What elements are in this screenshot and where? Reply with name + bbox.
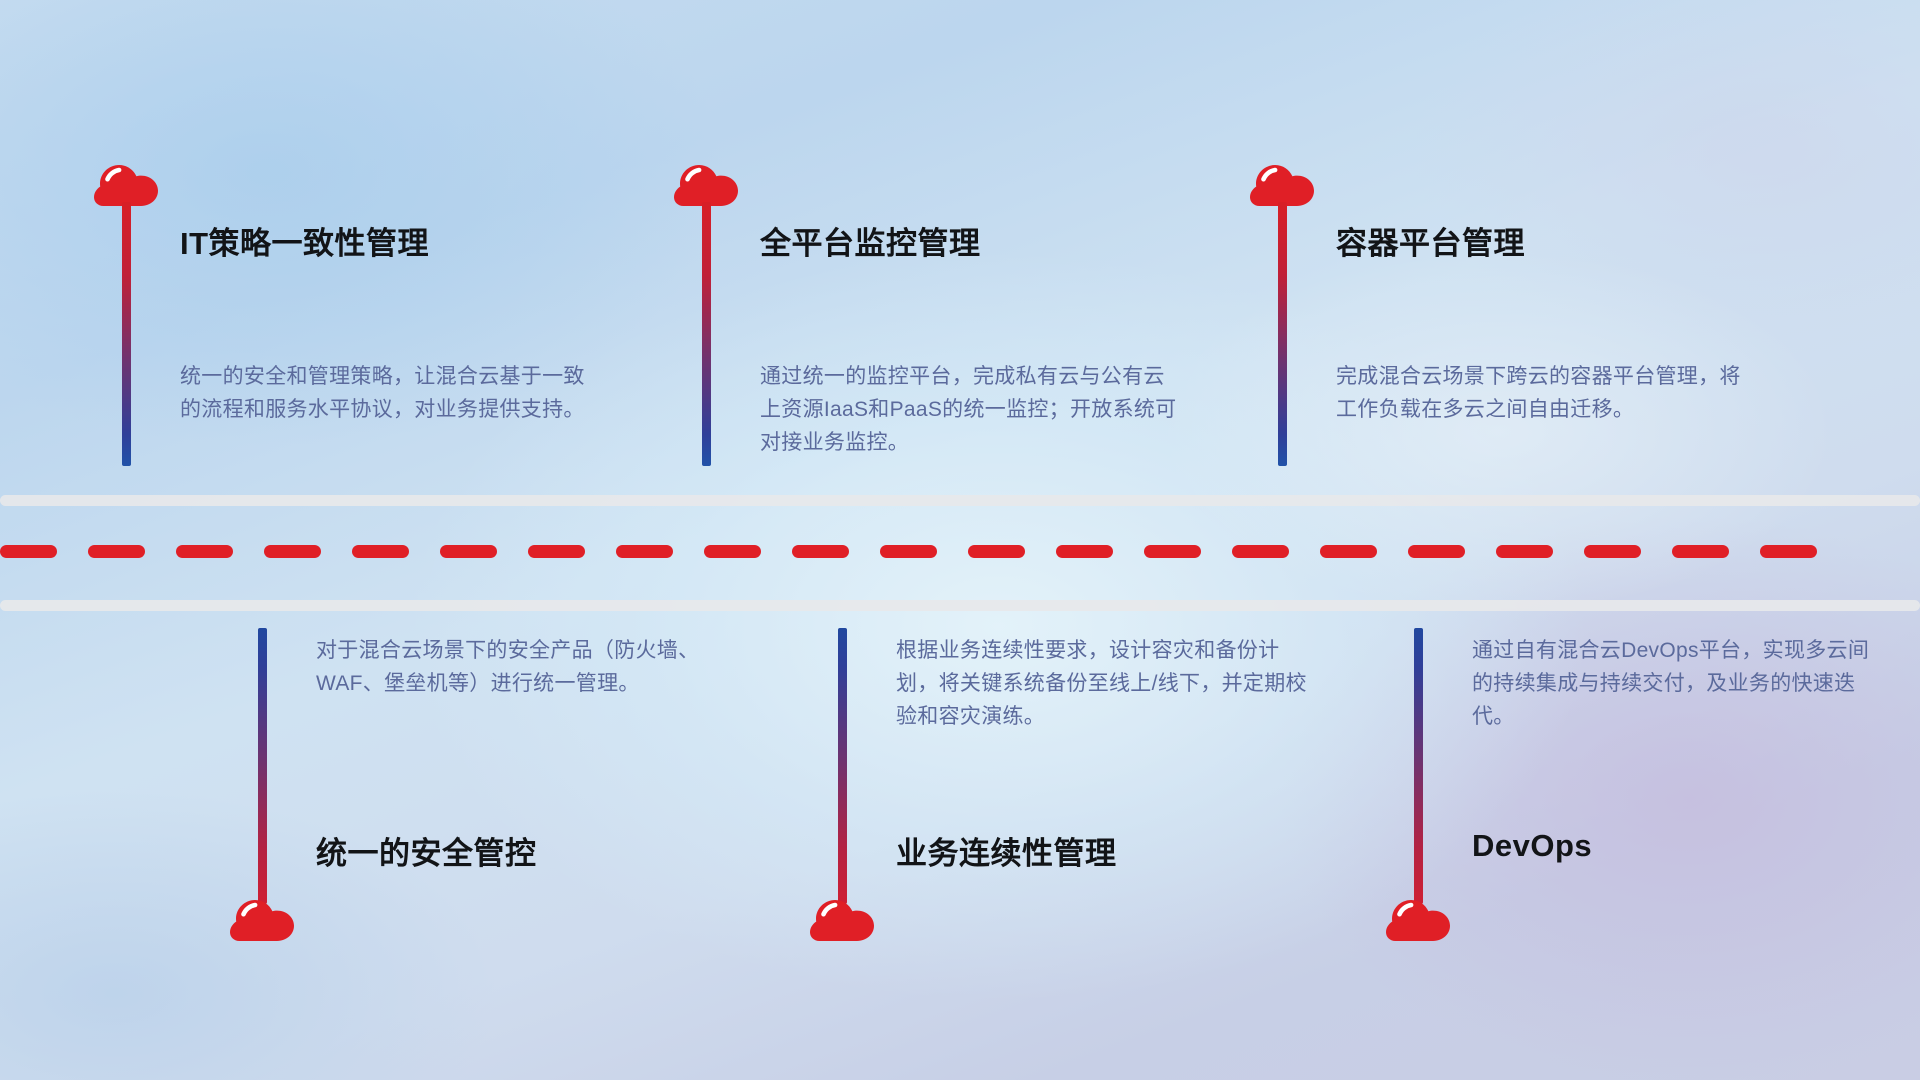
road-dash-segment (616, 545, 673, 558)
road-dash-segment (792, 545, 849, 558)
road-dash-segment (1496, 545, 1553, 558)
bottom-item-3-body: 通过自有混合云DevOps平台，实现多云间的持续集成与持续交付，及业务的快速迭代… (1472, 634, 1872, 734)
top-item-2-body: 通过统一的监控平台，完成私有云与公有云上资源IaaS和PaaS的统一监控；开放系… (760, 360, 1180, 460)
cloud-icon (1250, 160, 1316, 207)
road-dash-segment (1584, 545, 1641, 558)
road-dash-segment (1672, 545, 1729, 558)
stem-connector (838, 628, 847, 904)
cloud-icon (1386, 895, 1452, 942)
road-dash-segment (88, 545, 145, 558)
top-item-1-title: IT策略一致性管理 (180, 218, 429, 263)
bottom-item-2-body: 根据业务连续性要求，设计容灾和备份计划，将关键系统备份至线上/线下，并定期校验和… (896, 634, 1316, 734)
top-item-1-body: 统一的安全和管理策略，让混合云基于一致的流程和服务水平协议，对业务提供支持。 (180, 360, 600, 426)
cloud-icon (810, 895, 876, 942)
road-dash-segment (1056, 545, 1113, 558)
top-item-3-body: 完成混合云场景下跨云的容器平台管理，将工作负载在多云之间自由迁移。 (1336, 360, 1756, 426)
road-dash-segment (1760, 545, 1817, 558)
road-dashed-centerline (0, 545, 1920, 558)
top-item-2-title: 全平台监控管理 (760, 218, 981, 263)
stem-connector (1278, 202, 1287, 466)
bottom-item-3-title: DevOps (1472, 828, 1592, 864)
road-dash-segment (440, 545, 497, 558)
road-dash-segment (352, 545, 409, 558)
road-dash-segment (704, 545, 761, 558)
stem-connector (258, 628, 267, 904)
cloud-icon (94, 160, 160, 207)
road-line-top (0, 495, 1920, 506)
road-dash-segment (1408, 545, 1465, 558)
road-dash-segment (880, 545, 937, 558)
road-line-bottom (0, 600, 1920, 611)
top-item-3-title: 容器平台管理 (1336, 218, 1525, 263)
bottom-item-1-body: 对于混合云场景下的安全产品（防火墙、WAF、堡垒机等）进行统一管理。 (316, 634, 736, 700)
cloud-icon (674, 160, 740, 207)
road-dash-segment (176, 545, 233, 558)
road-dash-segment (0, 545, 57, 558)
stem-connector (702, 202, 711, 466)
road-dash-segment (1144, 545, 1201, 558)
cloud-icon (230, 895, 296, 942)
stem-connector (1414, 628, 1423, 904)
road-dash-segment (1232, 545, 1289, 558)
road-dash-segment (1320, 545, 1377, 558)
road-dash-segment (528, 545, 585, 558)
bottom-item-1-title: 统一的安全管控 (316, 828, 537, 873)
road-dash-segment (968, 545, 1025, 558)
bottom-item-2-title: 业务连续性管理 (896, 828, 1117, 873)
road-dash-segment (264, 545, 321, 558)
stem-connector (122, 202, 131, 466)
